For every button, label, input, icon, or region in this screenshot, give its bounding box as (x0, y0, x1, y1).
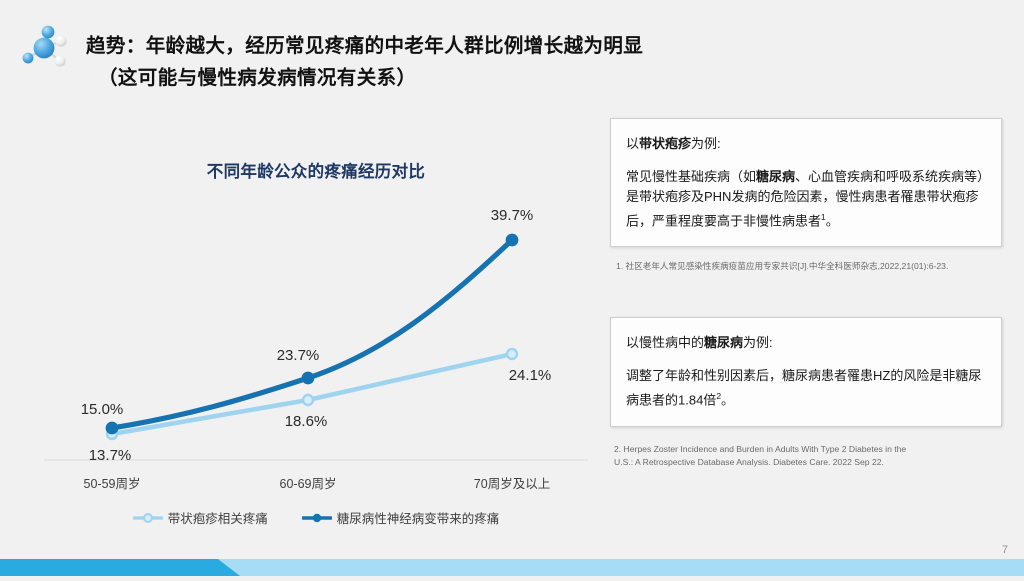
info-box-1-lead: 以带状疱疹为例: (626, 133, 986, 154)
lead-1-prefix: 以 (626, 136, 639, 151)
data-label-shingles-1: 13.7% (89, 447, 132, 464)
info-box-2-body: 调整了年龄和性别因素后，糖尿病患者罹患HZ的风险是非糖尿病患者的1.84倍2。 (626, 366, 986, 410)
legend-label-shingles: 带状疱疹相关疼痛 (168, 508, 268, 527)
chart-panel: 不同年龄公众的疼痛经历对比 15.0% 23.7% 39.7% 13.7% 18… (36, 140, 596, 540)
body-2-part-1: 调整了年龄和性别因素后，糖尿病患者罹患HZ的风险是非糖尿病患者的1.84倍 (626, 368, 981, 407)
data-point-shingles-3 (507, 349, 517, 359)
info-box-2-lead: 以慢性病中的糖尿病为例: (626, 332, 986, 353)
right-column: 以带状疱疹为例: 常见慢性基础疾病（如糖尿病、心血管疾病和呼吸系统疾病等）是带状… (610, 118, 1002, 470)
slide-header: 趋势：年龄越大，经历常见疼痛的中老年人群比例增长越为明显 （这可能与慢性病发病情… (0, 0, 1024, 112)
title-line-2: （这可能与慢性病发病情况有关系） (86, 62, 986, 94)
body-1-bold: 糖尿病 (756, 169, 795, 184)
citation-2: 2. Herpes Zoster Incidence and Burden in… (614, 443, 1002, 470)
citation-2-line-2: U.S.: A Retrospective Database Analysis.… (614, 456, 1002, 470)
body-2-part-2: 。 (721, 393, 734, 408)
info-box-diabetes: 以慢性病中的糖尿病为例: 调整了年龄和性别因素后，糖尿病患者罹患HZ的风险是非糖… (610, 317, 1002, 426)
chart-legend: 带状疱疹相关疼痛 糖尿病性神经病变带来的疼痛 (36, 508, 596, 527)
legend-item-shingles[interactable]: 带状疱疹相关疼痛 (133, 508, 268, 527)
data-point-diabetes-2 (303, 373, 313, 383)
info-box-shingles: 以带状疱疹为例: 常见慢性基础疾病（如糖尿病、心血管疾病和呼吸系统疾病等）是带状… (610, 118, 1002, 247)
data-label-diabetes-1: 15.0% (81, 401, 124, 418)
lead-2-bold: 糖尿病 (704, 335, 743, 350)
footer-dark-band (0, 559, 240, 576)
data-label-diabetes-2: 23.7% (277, 347, 320, 364)
legend-marker-shingles-icon (133, 512, 163, 524)
legend-item-diabetes[interactable]: 糖尿病性神经病变带来的疼痛 (302, 508, 500, 527)
lead-1-bold: 带状疱疹 (639, 136, 691, 151)
data-point-diabetes-1 (107, 423, 117, 433)
molecule-icon (14, 20, 76, 76)
data-label-diabetes-3: 39.7% (491, 207, 534, 224)
info-box-1-body: 常见慢性基础疾病（如糖尿病、心血管疾病和呼吸系统疾病等）是带状疱疹及PHN发病的… (626, 167, 986, 231)
data-label-shingles-2: 18.6% (285, 413, 328, 430)
lead-2-suffix: 为例: (743, 335, 773, 350)
x-axis-label-2: 60-69周岁 (280, 476, 337, 491)
data-label-shingles-3: 24.1% (509, 367, 552, 384)
body-1-part-3: 。 (826, 213, 839, 228)
title-line-1: 趋势：年龄越大，经历常见疼痛的中老年人群比例增长越为明显 (86, 30, 986, 62)
data-point-diabetes-3 (507, 235, 517, 245)
body-1-part-1: 常见慢性基础疾病（如 (626, 169, 756, 184)
citation-2-line-1: 2. Herpes Zoster Incidence and Burden in… (614, 443, 1002, 457)
page-title: 趋势：年龄越大，经历常见疼痛的中老年人群比例增长越为明显 （这可能与慢性病发病情… (86, 30, 986, 94)
page-number: 7 (1002, 544, 1008, 556)
data-point-shingles-2 (303, 395, 313, 405)
lead-1-suffix: 为例: (691, 136, 721, 151)
line-chart: 15.0% 23.7% 39.7% 13.7% 18.6% 24.1% 50-5… (36, 178, 596, 500)
legend-marker-diabetes-icon (302, 512, 332, 524)
x-axis-label-1: 50-59周岁 (84, 476, 141, 491)
citation-1: 1. 社区老年人常见感染性疾病疫苗应用专家共识[J].中华全科医师杂志,2022… (616, 260, 1002, 273)
footer-accent-bar (0, 559, 1024, 576)
lead-2-prefix: 以慢性病中的 (626, 335, 704, 350)
x-axis-label-3: 70周岁及以上 (474, 476, 550, 491)
legend-label-diabetes: 糖尿病性神经病变带来的疼痛 (337, 508, 500, 527)
